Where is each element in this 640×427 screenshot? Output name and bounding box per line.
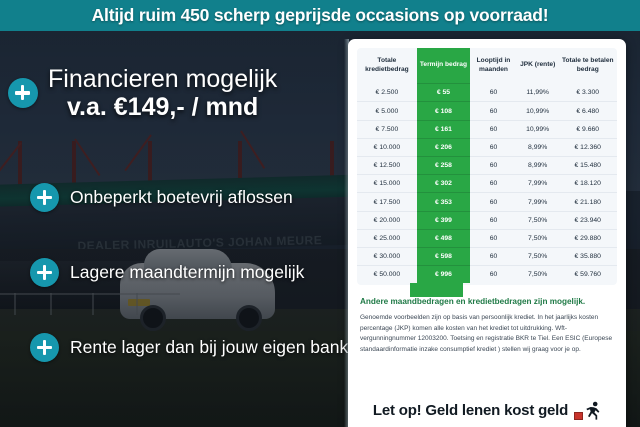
table-cell: 8,99% <box>517 157 559 175</box>
table-cell: € 30.000 <box>357 247 417 265</box>
table-cell: € 29.880 <box>558 229 617 247</box>
table-row: € 10.000€ 206608,99%€ 12.360 <box>357 138 617 156</box>
running-man-glyph <box>584 401 601 420</box>
table-cell: € 12.500 <box>357 157 417 175</box>
table-cell: € 23.940 <box>558 211 617 229</box>
table-cell: € 302 <box>417 175 470 193</box>
table-cell: € 15.480 <box>558 157 617 175</box>
table-cell: € 108 <box>417 102 470 120</box>
table-cell: € 498 <box>417 229 470 247</box>
table-cell: € 50.000 <box>357 266 417 284</box>
table-row: € 2.500€ 556011,99%€ 3.300 <box>357 84 617 102</box>
table-cell: 60 <box>470 266 517 284</box>
hero-line-2: v.a. €149,- / mnd <box>48 93 277 122</box>
plus-circle-icon <box>30 183 59 212</box>
list-item-label: Onbeperkt boetevrij aflossen <box>70 187 293 207</box>
table-cell: 60 <box>470 175 517 193</box>
table-cell: € 258 <box>417 157 470 175</box>
table-cell: 7,99% <box>517 193 559 211</box>
credit-warning-text: Let op! Geld lenen kost geld <box>373 402 568 419</box>
table-cell: € 10.000 <box>357 138 417 156</box>
disclaimer-note: Andere maandbedragen en kredietbedragen … <box>360 297 614 355</box>
table-cell: 7,50% <box>517 266 559 284</box>
plus-circle-icon <box>30 333 59 362</box>
plus-circle-icon <box>30 258 59 287</box>
column-header-total-credit: Totale kredietbedrag <box>357 48 417 84</box>
table-cell: 60 <box>470 211 517 229</box>
table-cell: € 3.300 <box>558 84 617 102</box>
table-cell: € 55 <box>417 84 470 102</box>
loan-table-container: Totale kredietbedrag Termijn bedrag Loop… <box>357 48 617 285</box>
table-cell: 60 <box>470 84 517 102</box>
table-row: € 12.500€ 258608,99%€ 15.480 <box>357 157 617 175</box>
column-header-monthly-amount: Termijn bedrag <box>417 48 470 84</box>
table-cell: € 206 <box>417 138 470 156</box>
credit-warning-bar: Let op! Geld lenen kost geld <box>348 394 626 427</box>
table-cell: 8,99% <box>517 138 559 156</box>
table-cell: € 7.500 <box>357 120 417 138</box>
table-cell: € 59.760 <box>558 266 617 284</box>
table-cell: € 12.360 <box>558 138 617 156</box>
table-cell: 60 <box>470 157 517 175</box>
running-man-afm-icon <box>574 401 601 420</box>
highlight-column-tail <box>410 283 463 297</box>
hero-financing-claim: Financieren mogelijk v.a. €149,- / mnd <box>8 65 277 122</box>
table-cell: € 25.000 <box>357 229 417 247</box>
table-cell: 10,99% <box>517 120 559 138</box>
table-row: € 5.000€ 1086010,99%€ 6.480 <box>357 102 617 120</box>
headline-banner-text: Altijd ruim 450 scherp geprijsde occasio… <box>92 5 549 26</box>
table-row: € 7.500€ 1616010,99%€ 9.660 <box>357 120 617 138</box>
column-header-apr: JPK (rente) <box>517 48 559 84</box>
table-cell: € 2.500 <box>357 84 417 102</box>
table-cell: 60 <box>470 102 517 120</box>
list-item-label: Lagere maandtermijn mogelijk <box>70 262 304 282</box>
advertisement-banner: DEALER INRUILAUTO'S JOHAN MEURE Altijd r… <box>0 0 640 427</box>
column-header-term-months: Looptijd in maanden <box>470 48 517 84</box>
table-cell: 7,99% <box>517 175 559 193</box>
loan-table: Totale kredietbedrag Termijn bedrag Loop… <box>357 48 617 283</box>
table-cell: € 598 <box>417 247 470 265</box>
table-row: € 20.000€ 399607,50%€ 23.940 <box>357 211 617 229</box>
table-cell: € 6.480 <box>558 102 617 120</box>
table-row: € 30.000€ 598607,50%€ 35.880 <box>357 247 617 265</box>
table-cell: 10,99% <box>517 102 559 120</box>
afm-red-block <box>574 412 583 420</box>
table-cell: € 15.000 <box>357 175 417 193</box>
table-cell: € 161 <box>417 120 470 138</box>
hero-line-1: Financieren mogelijk <box>48 65 277 93</box>
table-cell: € 18.120 <box>558 175 617 193</box>
plus-circle-icon <box>8 78 38 108</box>
table-cell: € 35.880 <box>558 247 617 265</box>
list-item: Onbeperkt boetevrij aflossen <box>30 183 293 212</box>
table-row: € 25.000€ 498607,50%€ 29.880 <box>357 229 617 247</box>
table-cell: 60 <box>470 247 517 265</box>
table-cell: 11,99% <box>517 84 559 102</box>
table-cell: 60 <box>470 193 517 211</box>
table-cell: € 996 <box>417 266 470 284</box>
table-cell: € 5.000 <box>357 102 417 120</box>
list-item: Rente lager dan bij jouw eigen bank <box>30 333 348 362</box>
table-cell: 60 <box>470 120 517 138</box>
disclaimer-body: Genoemde voorbeelden zijn op basis van p… <box>360 313 614 355</box>
list-item: Lagere maandtermijn mogelijk <box>30 258 304 287</box>
table-cell: € 9.660 <box>558 120 617 138</box>
loan-information-card: Totale kredietbedrag Termijn bedrag Loop… <box>348 39 626 427</box>
table-cell: € 21.180 <box>558 193 617 211</box>
list-item-label: Rente lager dan bij jouw eigen bank <box>70 337 348 357</box>
table-cell: 7,50% <box>517 247 559 265</box>
table-header-row: Totale kredietbedrag Termijn bedrag Loop… <box>357 48 617 84</box>
table-cell: € 399 <box>417 211 470 229</box>
table-cell: € 20.000 <box>357 211 417 229</box>
benefits-list: Financieren mogelijk v.a. €149,- / mnd O… <box>0 31 350 427</box>
table-cell: 60 <box>470 229 517 247</box>
table-cell: € 17.500 <box>357 193 417 211</box>
loan-table-body: € 2.500€ 556011,99%€ 3.300€ 5.000€ 10860… <box>357 84 617 284</box>
table-row: € 17.500€ 353607,99%€ 21.180 <box>357 193 617 211</box>
table-cell: € 353 <box>417 193 470 211</box>
table-cell: 7,50% <box>517 211 559 229</box>
table-cell: 60 <box>470 138 517 156</box>
disclaimer-heading: Andere maandbedragen en kredietbedragen … <box>360 297 614 308</box>
table-cell: 7,50% <box>517 229 559 247</box>
headline-banner: Altijd ruim 450 scherp geprijsde occasio… <box>0 0 640 31</box>
table-row: € 15.000€ 302607,99%€ 18.120 <box>357 175 617 193</box>
column-header-total-payable: Totale te betalen bedrag <box>558 48 617 84</box>
table-row: € 50.000€ 996607,50%€ 59.760 <box>357 266 617 284</box>
